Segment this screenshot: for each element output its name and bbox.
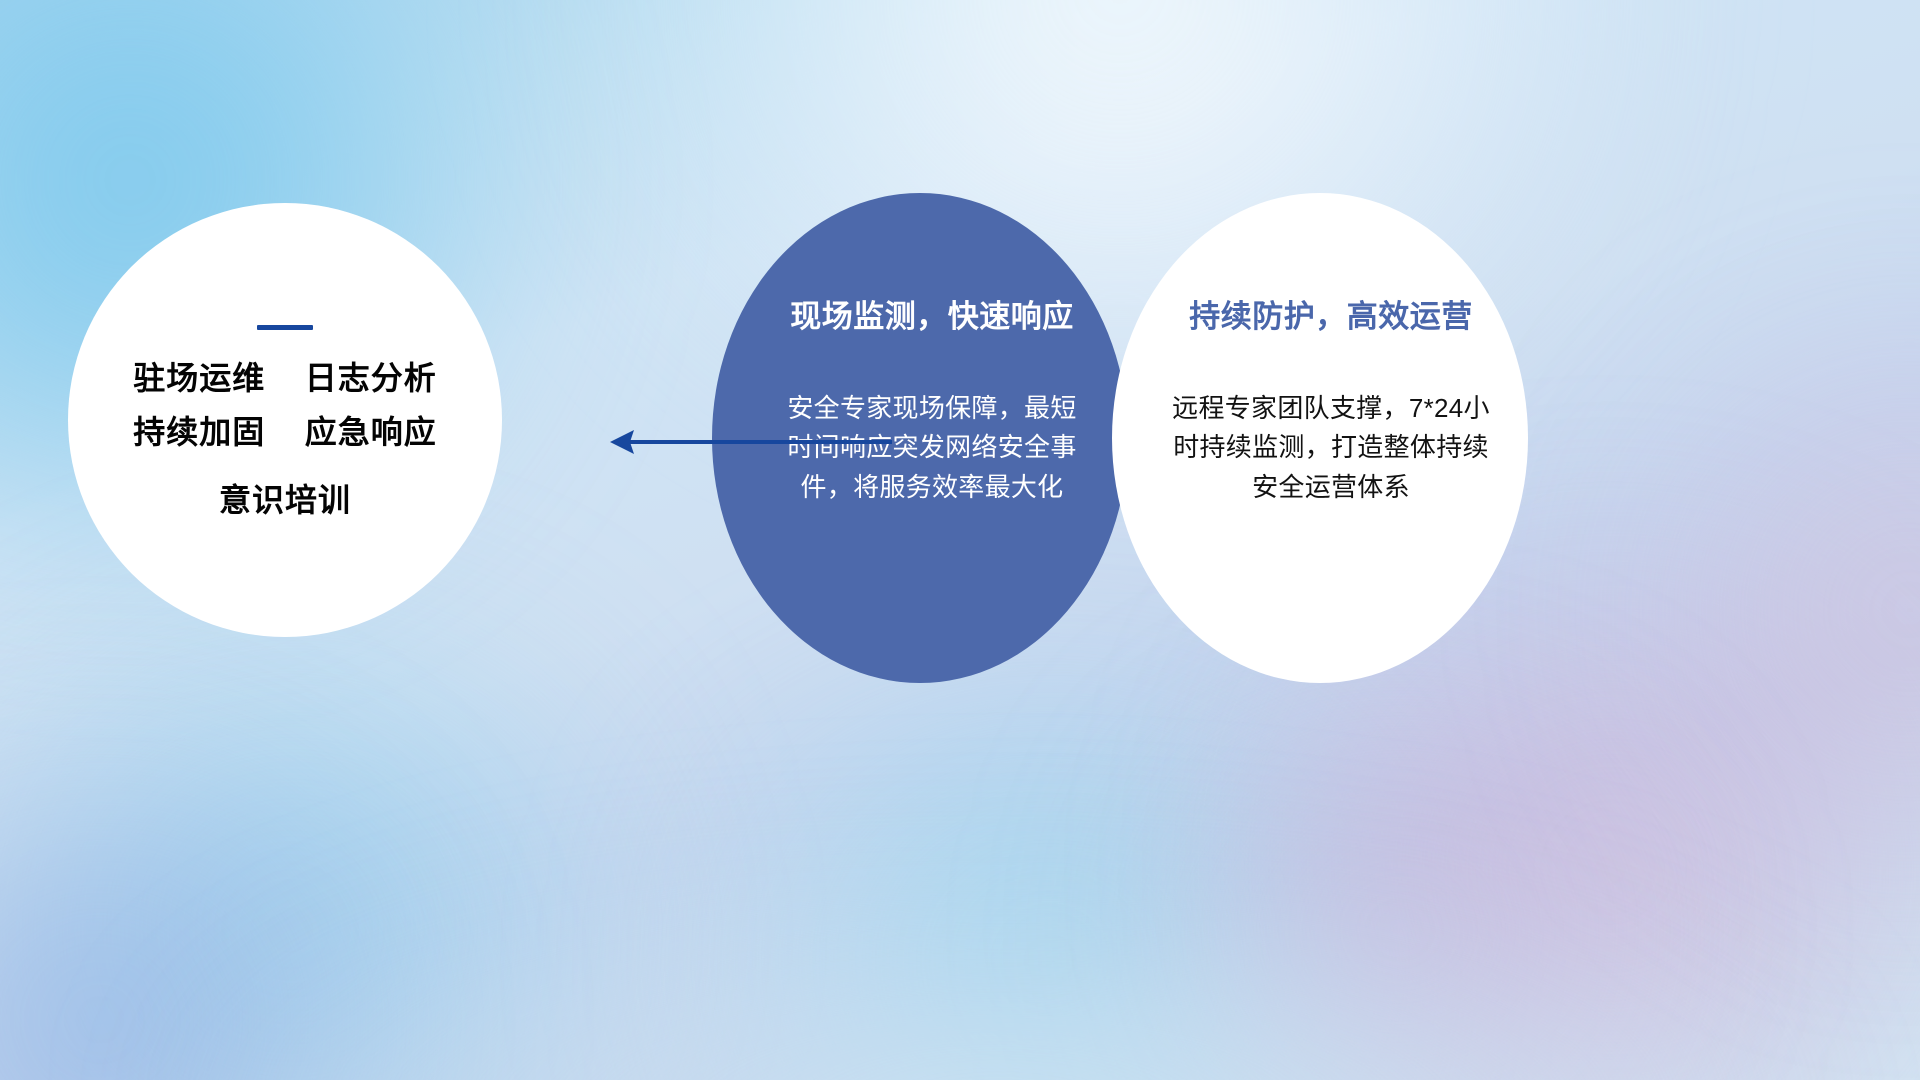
left-circle[interactable]: 驻场运维 日志分析 持续加固 应急响应 意识培训: [68, 203, 502, 637]
arrow-left-icon: [604, 412, 894, 472]
left-circle-line-2: 持续加固 应急响应: [133, 414, 437, 452]
right-circle[interactable]: 持续防护，高效运营 远程专家团队支撑，7*24小时持续监测，打造整体持续安全运营…: [1112, 193, 1528, 683]
middle-circle-heading: 现场监测，快速响应: [790, 298, 1074, 337]
right-circle-content: 持续防护，高效运营 远程专家团队支撑，7*24小时持续监测，打造整体持续安全运营…: [1112, 193, 1528, 683]
slide-canvas: 现场监测，快速响应 安全专家现场保障，最短时间响应突发网络安全事件，将服务效率最…: [0, 0, 1920, 1080]
accent-dash-icon: [257, 325, 313, 330]
left-circle-line-1: 驻场运维 日志分析: [133, 360, 437, 398]
left-circle-content: 驻场运维 日志分析 持续加固 应急响应 意识培训: [68, 203, 502, 637]
right-circle-body: 远程专家团队支撑，7*24小时持续监测，打造整体持续安全运营体系: [1168, 389, 1494, 508]
left-circle-line-3: 意识培训: [219, 482, 351, 520]
left-circle-capability-list: 驻场运维 日志分析 持续加固 应急响应 意识培训: [133, 360, 437, 519]
connector-arrow: [604, 412, 894, 472]
right-circle-heading: 持续防护，高效运营: [1189, 298, 1473, 337]
